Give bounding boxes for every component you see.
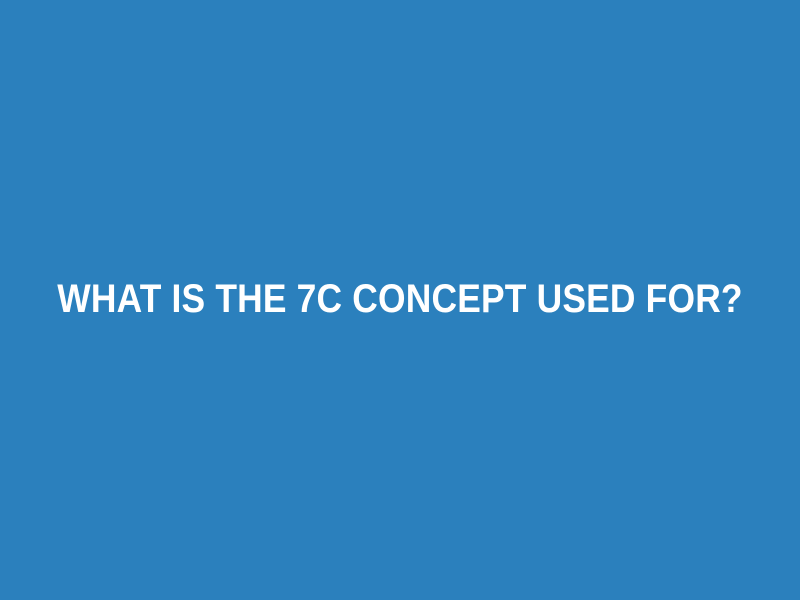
title-card: WHAT IS THE 7C CONCEPT USED FOR?	[0, 0, 800, 600]
page-title: WHAT IS THE 7C CONCEPT USED FOR?	[46, 276, 754, 323]
